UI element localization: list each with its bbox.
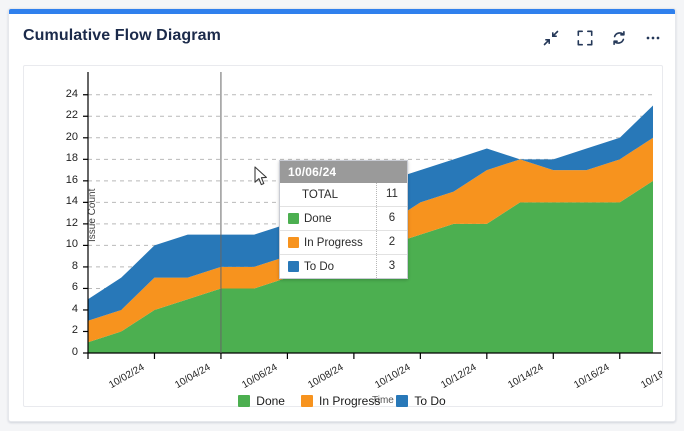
- y-axis-tick-label: 2: [52, 324, 78, 336]
- legend-label: Done: [256, 394, 285, 408]
- legend-item-to-do[interactable]: To Do: [396, 394, 445, 408]
- chart-plot-area: 024681012141618202224 10/02/2410/04/2410…: [23, 65, 663, 407]
- y-axis-tick-label: 16: [52, 174, 78, 186]
- tooltip-row: TOTAL11: [280, 183, 407, 206]
- y-axis-tick-label: 0: [52, 346, 78, 358]
- y-axis-tick-label: 24: [52, 88, 78, 100]
- tooltip-row: Done6: [280, 206, 407, 230]
- legend-label: In Progress: [319, 394, 380, 408]
- collapse-icon[interactable]: [541, 28, 561, 48]
- header-actions: [541, 28, 663, 48]
- legend-swatch: [301, 395, 313, 407]
- cumulative-flow-diagram-card: Cumulative Flow Diagram: [8, 8, 676, 422]
- card-header: Cumulative Flow Diagram: [9, 14, 675, 59]
- tooltip-date: 10/06/24: [280, 161, 407, 183]
- tooltip-swatch: [288, 213, 299, 224]
- tooltip-row-label: TOTAL: [280, 189, 376, 201]
- y-axis-tick-label: 12: [52, 217, 78, 229]
- y-axis-tick-label: 18: [52, 152, 78, 164]
- y-axis-tick-label: 4: [52, 303, 78, 315]
- refresh-icon[interactable]: [609, 28, 629, 48]
- tooltip-row: To Do3: [280, 254, 407, 278]
- tooltip-row-value: 6: [376, 207, 407, 230]
- legend-item-in-progress[interactable]: In Progress: [301, 394, 380, 408]
- tooltip-row: In Progress2: [280, 230, 407, 254]
- page-title: Cumulative Flow Diagram: [23, 27, 221, 45]
- y-axis-tick-label: 10: [52, 238, 78, 250]
- legend-item-done[interactable]: Done: [238, 394, 285, 408]
- more-options-icon[interactable]: [643, 28, 663, 48]
- tooltip-rows: TOTAL11Done6In Progress2To Do3: [280, 183, 407, 278]
- y-axis-tick-label: 8: [52, 260, 78, 272]
- legend-label: To Do: [414, 394, 445, 408]
- y-axis-tick-label: 14: [52, 195, 78, 207]
- legend-swatch: [238, 395, 250, 407]
- y-axis-tick-label: 22: [52, 109, 78, 121]
- tooltip-row-label: Done: [280, 213, 376, 225]
- chart-tooltip: 10/06/24 TOTAL11Done6In Progress2To Do3: [279, 160, 408, 279]
- tooltip-row-value: 2: [376, 231, 407, 254]
- tooltip-row-value: 11: [376, 183, 407, 206]
- tooltip-row-label: To Do: [280, 261, 376, 273]
- fullscreen-icon[interactable]: [575, 28, 595, 48]
- chart-legend: DoneIn ProgressTo Do: [9, 394, 675, 408]
- tooltip-row-label: In Progress: [280, 237, 376, 249]
- y-axis-tick-label: 6: [52, 281, 78, 293]
- y-axis-tick-label: 20: [52, 131, 78, 143]
- tooltip-swatch: [288, 261, 299, 272]
- legend-swatch: [396, 395, 408, 407]
- tooltip-row-value: 3: [376, 255, 407, 278]
- y-axis-label: Issue Count: [87, 189, 98, 242]
- tooltip-swatch: [288, 237, 299, 248]
